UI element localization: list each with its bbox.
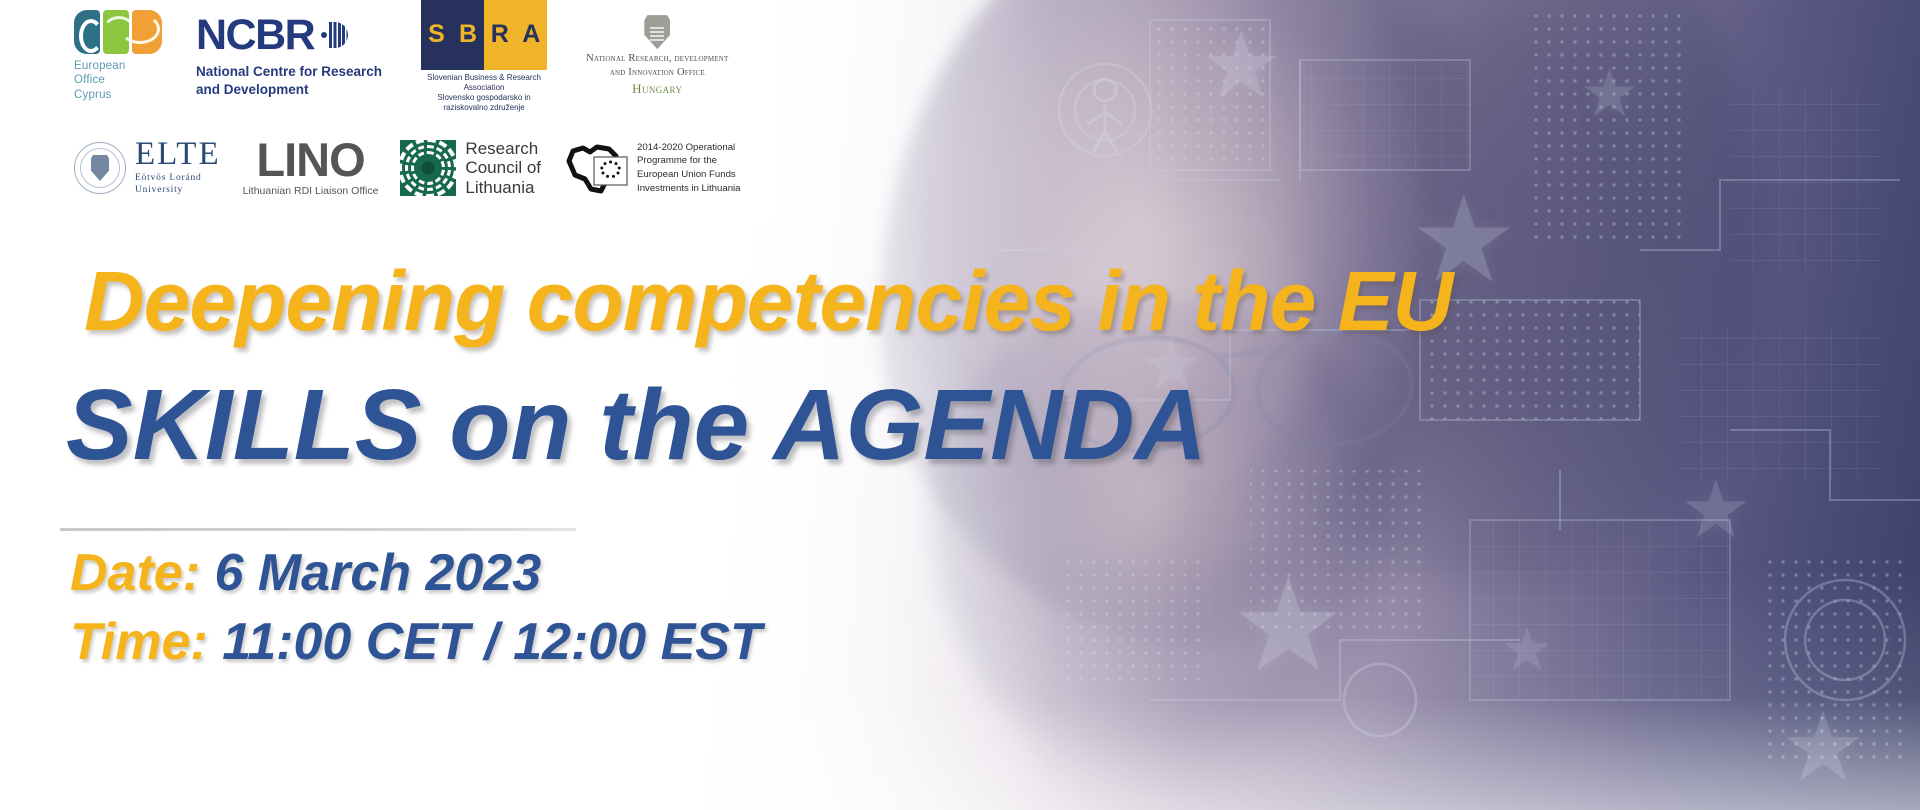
european-office-cyprus-label: European Office Cyprus [74,59,125,101]
event-date-row: Date: 6 March 2023 [70,543,541,603]
logo-research-council-lithuania: Research Council of Lithuania [400,139,541,196]
event-time-row: Time: 11:00 CET / 12:00 EST [70,612,762,672]
partner-logo-strip: European Office Cyprus NCBR National Cen… [0,0,778,222]
logo-elte: ELTE Eötvös Loránd University [74,139,221,196]
event-date-value: 6 March 2023 [214,544,541,602]
hungary-coat-of-arms-icon [644,15,670,49]
rcl-line-3: Lithuania [465,178,541,197]
research-council-lithuania-icon [400,140,456,196]
sbra-letter-b: B [459,20,477,49]
elte-wordmark: ELTE [135,139,221,170]
logo-european-office-cyprus: European Office Cyprus [74,10,162,101]
ncbr-subtitle: National Centre for Research and Develop… [196,63,382,99]
research-council-lithuania-label: Research Council of Lithuania [465,139,541,196]
sbra-caption: Slovenian Business & Research Associatio… [416,73,552,113]
lino-subtitle: Lithuanian RDI Liaison Office [243,185,379,197]
elte-seal-icon [74,142,126,194]
sbra-icon: S B R A [421,0,547,70]
nrdi-line-1: National Research, development [586,52,728,66]
sbra-letter-s: S [428,20,445,49]
rcl-line-1: Research [465,139,541,158]
elte-sub-line-1: Eötvös Loránd [135,173,221,185]
event-time-value: 11:00 CET / 12:00 EST [222,613,762,671]
event-title-line-2: SKILLS on the AGENDA [66,368,1207,483]
event-time-label: Time: [70,613,208,671]
european-office-cyprus-icon [74,10,162,54]
nrdi-country: Hungary [586,80,728,97]
rcl-line-2: Council of [465,158,541,177]
logo-sbra: S B R A Slovenian Business & Research As… [416,0,552,113]
event-title-line-1: Deepening competencies in the EU [84,253,1452,350]
lithuania-map-eu-stars-icon [563,139,629,197]
sbra-letter-a: A [522,20,540,49]
ncbr-sub-line-2: and Development [196,81,382,99]
logo-row-top: European Office Cyprus NCBR National Cen… [74,4,728,108]
eu-operational-programme-label: 2014-2020 Operational Programme for the … [637,141,740,195]
event-banner: ★ ★ ★ ★ ★ ★ ★ ★ European Office Cyprus [0,0,1920,810]
nrdi-hungary-label: National Research, development and Innov… [586,52,728,97]
title-divider [60,528,576,531]
ncbr-wordmark: NCBR [196,14,314,57]
nrdi-line-2: and Innovation Office [586,66,728,80]
ncbr-sub-line-1: National Centre for Research [196,63,382,81]
eoc-line-3: Cyprus [74,88,125,102]
sbra-caption-sl: Slovensko gospodarsko in raziskovalno zd… [416,93,552,113]
event-date-label: Date: [70,544,200,602]
sbra-caption-en: Slovenian Business & Research Associatio… [416,73,552,93]
elte-sub-line-2: University [135,185,221,197]
logo-nrdi-hungary: National Research, development and Innov… [586,15,728,97]
logo-eu-operational-programme: 2014-2020 Operational Programme for the … [563,139,740,197]
euop-line-4: Investments in Lithuania [637,182,740,196]
euop-line-2: Programme for the [637,154,740,168]
eoc-line-2: Office [74,73,125,87]
logo-ncbr: NCBR National Centre for Research and De… [196,14,382,99]
ncbr-mark-icon [321,22,348,48]
euop-line-3: European Union Funds [637,168,740,182]
eoc-line-1: European [74,59,125,73]
euop-line-1: 2014-2020 Operational [637,141,740,155]
lino-wordmark: LINO [256,139,364,181]
logo-lino: LINO Lithuanian RDI Liaison Office [243,139,379,197]
sbra-letter-r: R [491,20,509,49]
logo-row-bottom: ELTE Eötvös Loránd University LINO Lithu… [74,126,741,210]
